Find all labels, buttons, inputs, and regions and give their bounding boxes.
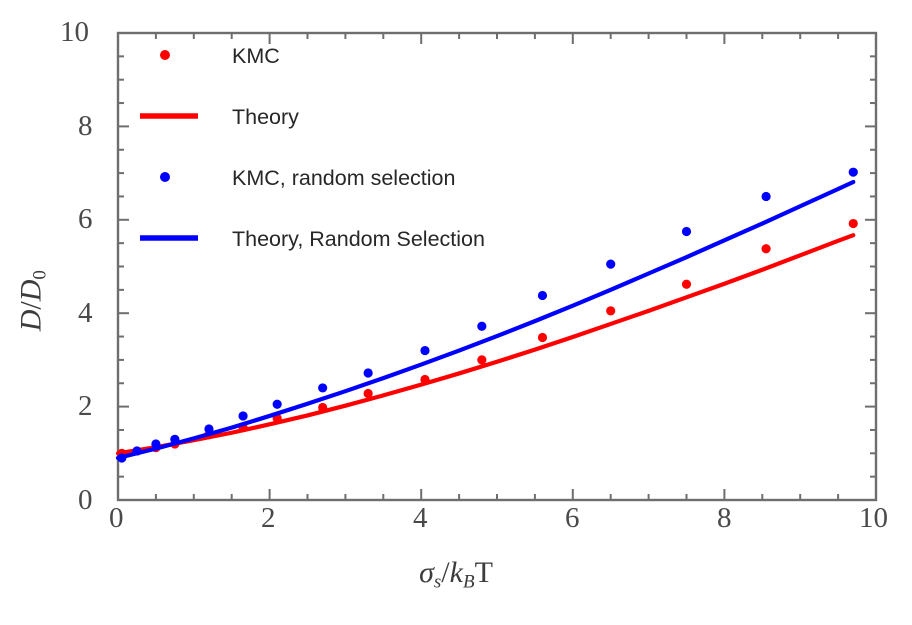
legend-marker-kmc-random	[160, 172, 170, 182]
data-point-kmc-random-selection	[477, 322, 486, 331]
data-point-kmc-random-selection	[606, 260, 615, 269]
axis-ticks	[118, 33, 876, 500]
data-point-kmc-random-selection	[849, 168, 858, 177]
data-point-kmc	[538, 333, 547, 342]
figure-panel: 0 2 4 6 8 10 0 2 4 6 8 10 D/D0 σs/kBT KM…	[0, 0, 912, 625]
y-axis-label: D/D0	[14, 241, 51, 361]
data-point-kmc-random-selection	[761, 192, 770, 201]
x-axis-T: T	[475, 556, 493, 589]
data-point-kmc	[761, 244, 770, 253]
xtick-label-10: 10	[859, 502, 888, 535]
chart-canvas	[0, 0, 912, 625]
xtick-label-6: 6	[565, 502, 580, 535]
legend-label-theory-random: Theory, Random Selection	[232, 227, 485, 252]
data-point-kmc	[606, 306, 615, 315]
xtick-label-8: 8	[717, 502, 732, 535]
legend-label-kmc: KMC	[232, 44, 280, 69]
ytick-label-8: 8	[78, 110, 93, 143]
ytick-label-6: 6	[78, 203, 93, 236]
legend-marker-kmc	[160, 50, 170, 60]
y-axis-slash: /	[14, 301, 47, 309]
data-point-kmc-random-selection	[318, 383, 327, 392]
data-point-kmc-random-selection	[273, 400, 282, 409]
xtick-label-0: 0	[109, 502, 124, 535]
legend-markers	[140, 50, 198, 238]
data-point-kmc-random-selection	[364, 368, 373, 377]
data-point-kmc-random-selection	[420, 346, 429, 355]
ytick-label-2: 2	[78, 390, 93, 423]
ytick-label-4: 4	[78, 297, 93, 330]
legend-label-theory: Theory	[232, 105, 299, 130]
xtick-label-2: 2	[261, 502, 276, 535]
x-axis-sigma: σ	[419, 556, 434, 589]
xtick-label-4: 4	[413, 502, 428, 535]
y-axis-denominator-subscript: 0	[30, 270, 51, 280]
data-point-kmc	[849, 219, 858, 228]
x-axis-label: σs/kBT	[0, 556, 912, 593]
data-point-kmc-random-selection	[538, 291, 547, 300]
axes-frame	[118, 33, 876, 500]
x-axis-k: k	[450, 556, 463, 589]
x-axis-k-subscript: B	[463, 571, 475, 592]
x-axis-slash: /	[441, 556, 449, 589]
legend-label-kmc-random: KMC, random selection	[232, 166, 455, 191]
y-axis-numerator: D	[14, 310, 47, 332]
ytick-label-10: 10	[60, 16, 89, 49]
data-point-kmc	[477, 355, 486, 364]
ytick-label-0: 0	[78, 484, 93, 517]
data-series	[117, 168, 858, 463]
y-axis-denominator: D	[14, 280, 47, 302]
series-line-theory	[118, 235, 853, 453]
series-line-theory-random-selection	[118, 182, 853, 458]
plot-frame	[118, 33, 876, 500]
data-point-kmc-random-selection	[238, 411, 247, 420]
data-point-kmc-random-selection	[682, 227, 691, 236]
data-point-kmc	[682, 280, 691, 289]
